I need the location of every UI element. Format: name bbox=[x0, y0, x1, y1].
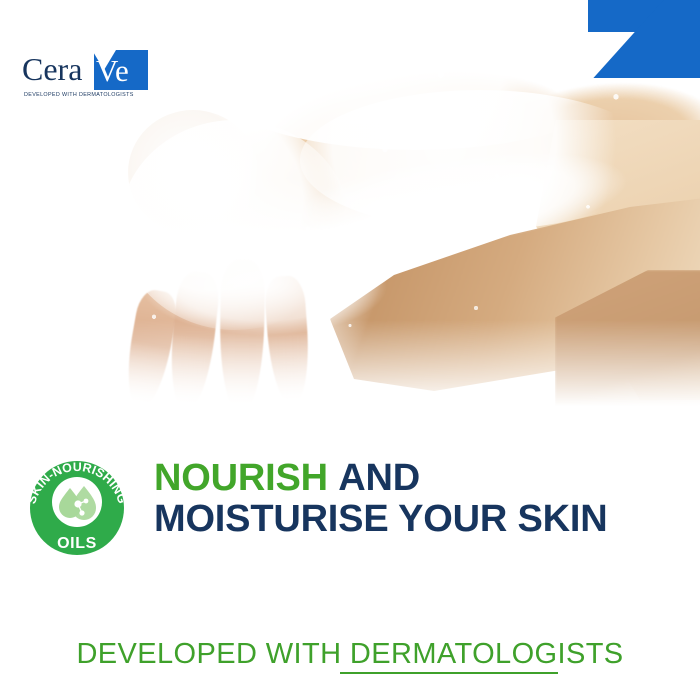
footer-tagline: DEVELOPED WITH DERMATOLOGISTS bbox=[0, 638, 700, 671]
headline: NOURISH AND MOISTURISE YOUR SKIN bbox=[154, 458, 607, 540]
footer-tagline-underline bbox=[340, 672, 558, 674]
headline-highlight-word: NOURISH bbox=[154, 457, 328, 499]
badge-bottom-label: OILS bbox=[57, 535, 97, 552]
logo-tagline: DEVELOPED WITH DERMATOLOGISTS bbox=[24, 92, 134, 98]
cerave-logo: Cera Ve DEVELOPED WITH DERMATOLOGISTS bbox=[22, 48, 150, 100]
headline-conjunction: AND bbox=[338, 457, 420, 499]
skin-nourishing-oils-badge: SKIN-NOURISHING OILS bbox=[18, 452, 136, 564]
hero-bottom-fade bbox=[0, 320, 700, 440]
footer-tagline-text: DEVELOPED WITH DERMATOLOGISTS bbox=[76, 638, 623, 670]
headline-line-1: NOURISH AND bbox=[154, 458, 607, 499]
headline-line-2: MOISTURISE YOUR SKIN bbox=[154, 499, 607, 540]
ad-canvas: Cera Ve DEVELOPED WITH DERMATOLOGISTS bbox=[0, 0, 700, 700]
cerave-logo-svg: Cera Ve DEVELOPED WITH DERMATOLOGISTS bbox=[22, 48, 150, 100]
badge-svg: SKIN-NOURISHING OILS bbox=[18, 452, 136, 564]
logo-wordmark-cera: Cera bbox=[22, 51, 82, 87]
